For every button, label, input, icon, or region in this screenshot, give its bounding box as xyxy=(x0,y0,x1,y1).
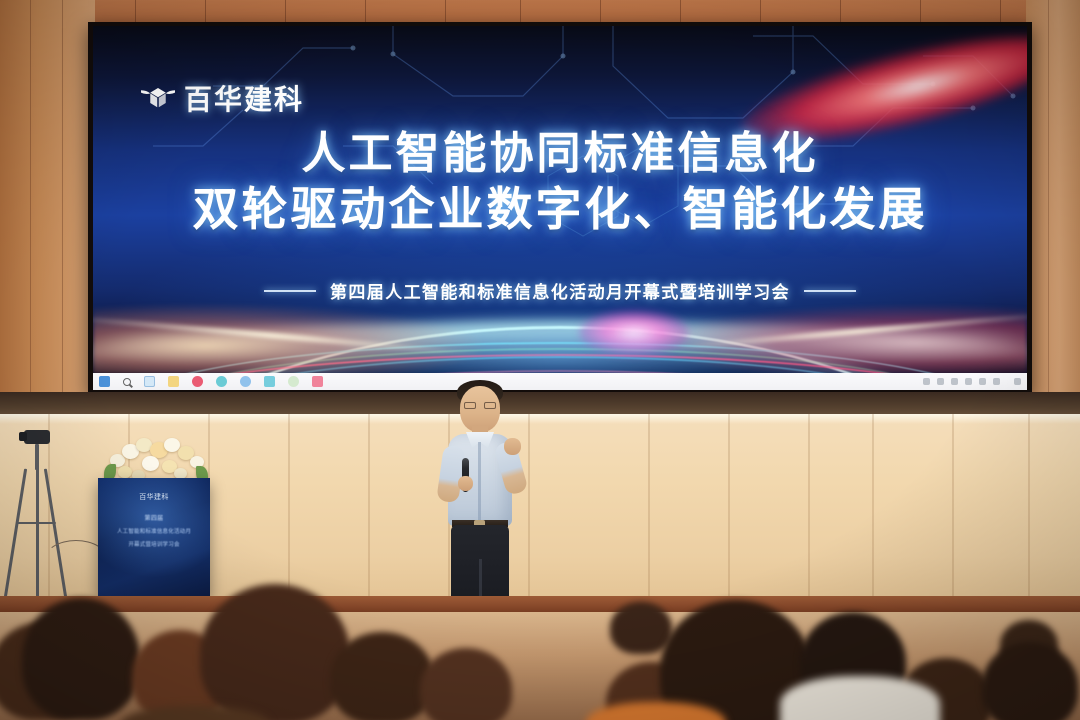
audience-head xyxy=(200,584,350,720)
slide-title-line-1: 人工智能协同标准信息化 xyxy=(93,126,1027,181)
audience-head xyxy=(982,642,1078,720)
browser-icon[interactable] xyxy=(216,376,227,387)
conference-photo-scene: 百华建科 人工智能协同标准信息化 双轮驱动企业数字化、智能化发展 第四届人工智能… xyxy=(0,0,1080,720)
audience-head xyxy=(610,602,672,654)
audience-head xyxy=(22,598,140,720)
podium-heading: 第四届 xyxy=(98,513,210,522)
led-screen: 百华建科 人工智能协同标准信息化 双轮驱动企业数字化、智能化发展 第四届人工智能… xyxy=(93,26,1027,390)
audience-shoulders xyxy=(780,676,940,720)
tray-icon-5[interactable] xyxy=(979,378,986,385)
presenter-mic-hand xyxy=(458,476,473,491)
slide-subtitle-row: 第四届人工智能和标准信息化活动月开幕式暨培训学习会 xyxy=(93,278,1027,303)
podium-line-1: 人工智能和标准信息化活动月 xyxy=(98,527,210,535)
video-camera-icon xyxy=(24,430,50,444)
presenter-shirt-placket xyxy=(478,442,481,524)
taskbar-tray xyxy=(923,378,1021,385)
start-icon[interactable] xyxy=(99,376,110,387)
cube-box-logo-icon xyxy=(141,83,175,113)
tray-icon-4[interactable] xyxy=(965,378,972,385)
slide-title-line-2: 双轮驱动企业数字化、智能化发展 xyxy=(93,181,1027,239)
file-explorer-icon[interactable] xyxy=(168,376,179,387)
windows-taskbar[interactable] xyxy=(93,373,1027,390)
task-view-icon[interactable] xyxy=(144,376,155,387)
qq-icon[interactable] xyxy=(312,376,323,387)
audience-foreground xyxy=(0,560,1080,720)
slide-subtitle: 第四届人工智能和标准信息化活动月开幕式暨培训学习会 xyxy=(330,278,790,303)
display-icon[interactable] xyxy=(264,376,275,387)
audience-head xyxy=(420,648,512,720)
wechat-icon[interactable] xyxy=(288,376,299,387)
glasses-icon xyxy=(464,402,496,409)
subtitle-rule-right xyxy=(804,290,856,292)
presenter-raised-fist xyxy=(504,438,521,455)
subtitle-rule-left xyxy=(264,290,316,292)
city-lights-band xyxy=(93,300,1027,374)
tray-icon-6[interactable] xyxy=(993,378,1000,385)
tray-icon-1[interactable] xyxy=(923,378,930,385)
media-player-icon[interactable] xyxy=(240,376,251,387)
tray-icon-3[interactable] xyxy=(951,378,958,385)
right-wall-panel xyxy=(1026,0,1080,430)
tray-icon-2[interactable] xyxy=(937,378,944,385)
taskbar-apps xyxy=(99,376,323,387)
brand-lockup: 百华建科 xyxy=(141,78,304,118)
slide-title-block: 人工智能协同标准信息化 双轮驱动企业数字化、智能化发展 xyxy=(93,126,1027,239)
podium-line-2: 开幕式暨培训学习会 xyxy=(98,540,210,548)
search-icon[interactable] xyxy=(123,378,131,386)
wps-office-icon[interactable] xyxy=(192,376,203,387)
podium-logo: 百华建科 xyxy=(98,492,210,502)
tray-icon-7[interactable] xyxy=(1014,378,1021,385)
left-wall-panel xyxy=(0,0,95,430)
audience-head xyxy=(330,632,434,720)
brand-name: 百华建科 xyxy=(184,78,304,118)
